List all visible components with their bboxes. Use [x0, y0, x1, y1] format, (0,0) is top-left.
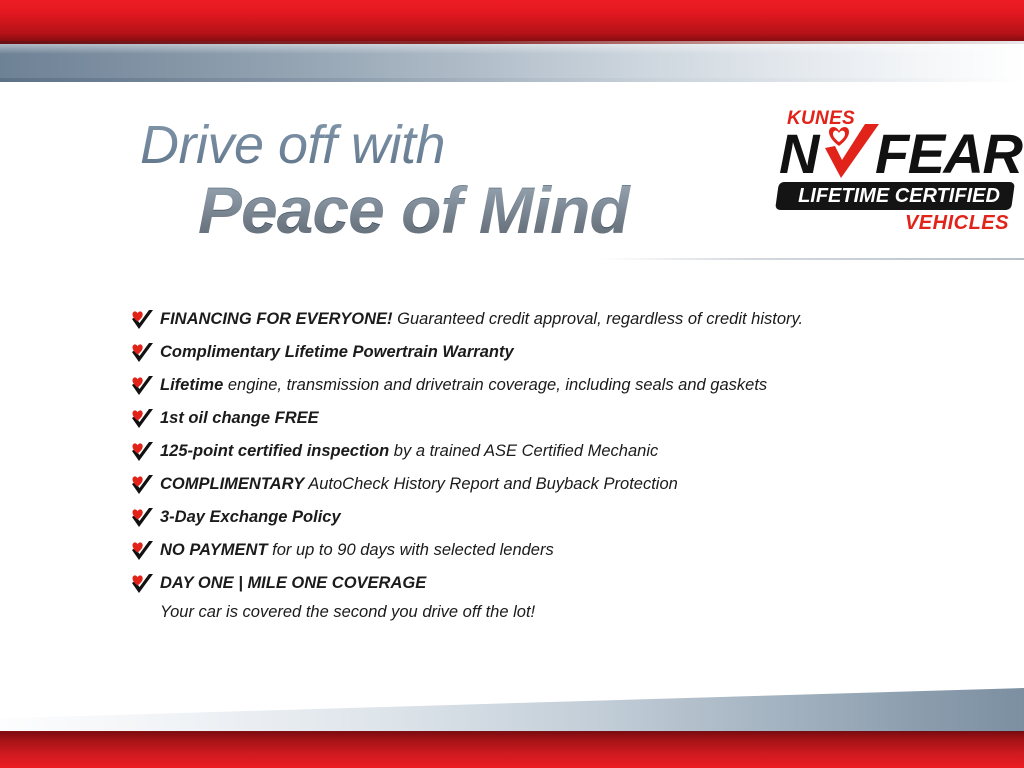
logo-nofear-wordmark: N FEAR — [779, 126, 1017, 182]
list-item-bold: Complimentary Lifetime Powertrain Warran… — [160, 343, 514, 361]
list-item-text: COMPLIMENTARY AutoCheck History Report a… — [160, 473, 678, 495]
list-item-rest: for up to 90 days with selected lenders — [268, 541, 554, 559]
list-item: DAY ONE | MILE ONE COVERAGE Your car is … — [130, 572, 930, 623]
heart-check-bullet-icon — [130, 540, 154, 562]
top-red-bar — [0, 0, 1024, 43]
list-item-bold: NO PAYMENT — [160, 541, 268, 559]
list-item-bold: DAY ONE | MILE ONE COVERAGE — [160, 574, 426, 592]
logo-word-vehicles: VEHICLES — [905, 212, 1009, 235]
list-item-text: 125-point certified inspection by a trai… — [160, 440, 658, 462]
list-item: NO PAYMENT for up to 90 days with select… — [130, 539, 930, 562]
list-item-bold: Lifetime — [160, 376, 223, 394]
logo-letter-n: N — [779, 126, 817, 182]
list-item: FINANCING FOR EVERYONE! Guaranteed credi… — [130, 308, 930, 331]
list-item: COMPLIMENTARY AutoCheck History Report a… — [130, 473, 930, 496]
heart-check-bullet-icon — [130, 573, 154, 595]
heart-check-bullet-icon — [130, 474, 154, 496]
headline-line-1: Drive off with — [140, 118, 760, 172]
list-item: 3-Day Exchange Policy — [130, 506, 930, 529]
list-item-text: FINANCING FOR EVERYONE! Guaranteed credi… — [160, 308, 803, 330]
list-item: 1st oil change FREE — [130, 407, 930, 430]
list-item-subtext: Your car is covered the second you drive… — [160, 601, 930, 623]
list-item-text: NO PAYMENT for up to 90 days with select… — [160, 539, 554, 561]
heart-checkmark-icon — [815, 122, 881, 186]
heart-check-bullet-icon — [130, 507, 154, 529]
benefits-list: FINANCING FOR EVERYONE! Guaranteed credi… — [130, 308, 930, 623]
bottom-gray-wedge — [0, 688, 1024, 734]
headline-line-2: Peace of Mind — [198, 176, 760, 245]
bottom-banner — [0, 688, 1024, 768]
list-item: Lifetime engine, transmission and drivet… — [130, 374, 930, 397]
logo-word-fear: FEAR — [875, 126, 1021, 182]
list-item-rest: by a trained ASE Certified Mechanic — [389, 442, 658, 460]
list-item-rest: AutoCheck History Report and Buyback Pro… — [304, 475, 678, 493]
top-banner — [0, 0, 1024, 82]
list-item-rest: Guaranteed credit approval, regardless o… — [393, 310, 804, 328]
logo-certified-text: LIFETIME CERTIFIED — [785, 184, 1013, 208]
list-item: Complimentary Lifetime Powertrain Warran… — [130, 341, 930, 364]
list-item-text: Lifetime engine, transmission and drivet… — [160, 374, 767, 396]
kunes-no-fear-logo: KUNES N FEAR LIFETIME CERTIFIED VEHICLES — [773, 108, 1017, 244]
list-item-text: 1st oil change FREE — [160, 407, 319, 429]
list-item-rest: engine, transmission and drivetrain cove… — [223, 376, 767, 394]
logo-divider-line — [600, 258, 1024, 260]
heart-check-bullet-icon — [130, 375, 154, 397]
list-item-bold: 125-point certified inspection — [160, 442, 389, 460]
heart-check-bullet-icon — [130, 441, 154, 463]
top-gray-shine — [0, 44, 1024, 54]
list-item: 125-point certified inspection by a trai… — [130, 440, 930, 463]
list-item-text: Complimentary Lifetime Powertrain Warran… — [160, 341, 514, 363]
top-gray-bottom-edge — [0, 78, 1024, 82]
list-item-bold: FINANCING FOR EVERYONE! — [160, 310, 393, 328]
bottom-red-bar — [0, 732, 1024, 768]
headline: Drive off with Peace of Mind — [140, 118, 760, 245]
list-item-text: DAY ONE | MILE ONE COVERAGE — [160, 572, 426, 594]
list-item-bold: 1st oil change FREE — [160, 409, 319, 427]
list-item-bold: 3-Day Exchange Policy — [160, 508, 341, 526]
list-item-text: 3-Day Exchange Policy — [160, 506, 341, 528]
list-item-bold: COMPLIMENTARY — [160, 475, 304, 493]
heart-check-bullet-icon — [130, 408, 154, 430]
heart-check-bullet-icon — [130, 309, 154, 331]
heart-check-bullet-icon — [130, 342, 154, 364]
